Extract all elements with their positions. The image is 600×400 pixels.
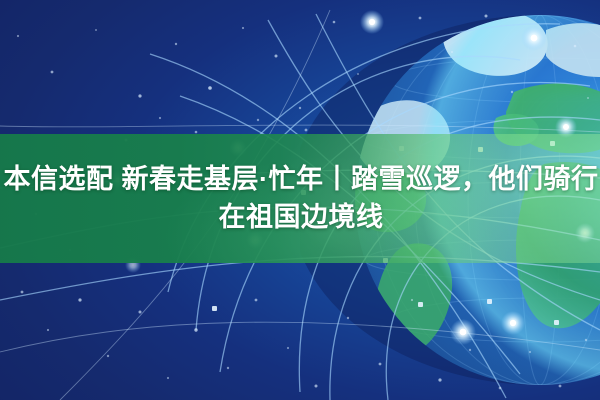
news-banner-image: 本信选配 新春走基层·忙年丨踏雪巡逻，他们骑行 在祖国边境线 [0, 0, 600, 400]
headline-line-1: 本信选配 新春走基层·忙年丨踏雪巡逻，他们骑行 [2, 163, 599, 197]
headline-line-2: 在祖国边境线 [217, 201, 384, 235]
headline-block: 本信选配 新春走基层·忙年丨踏雪巡逻，他们骑行 在祖国边境线 [0, 134, 600, 263]
